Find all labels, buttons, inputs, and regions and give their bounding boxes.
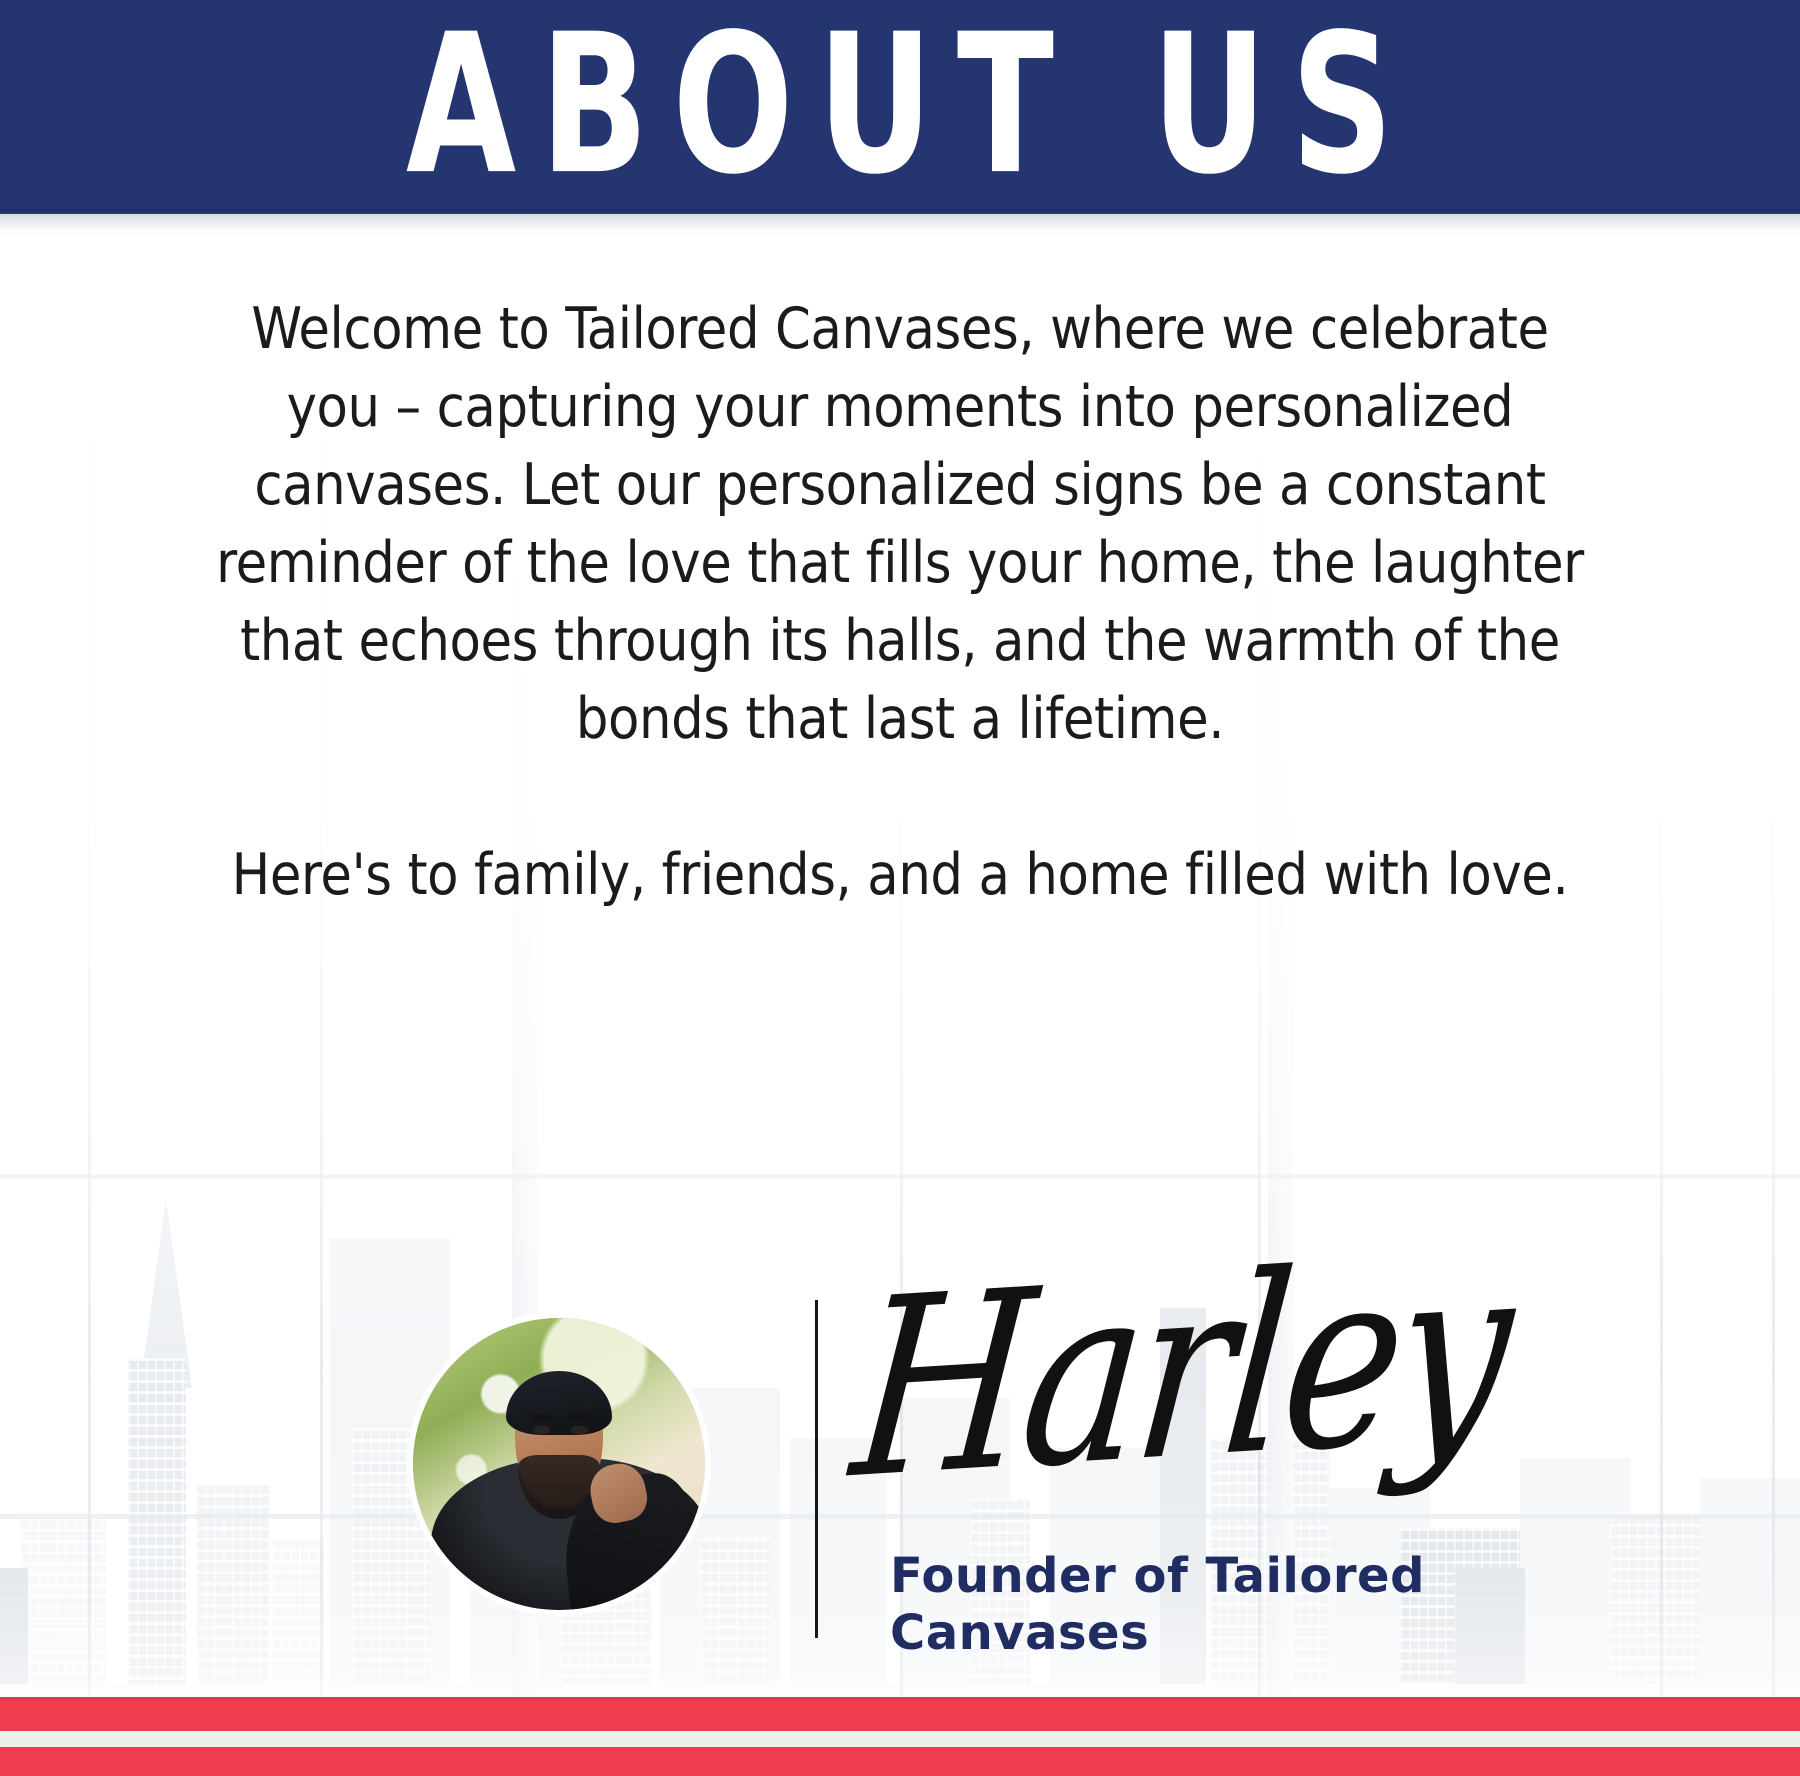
header-bar: ABOUT US xyxy=(0,0,1800,209)
avatar-eyebrow-left xyxy=(530,1414,553,1420)
about-us-poster: ABOUT US Welcome to Tailored Canvases, w… xyxy=(0,0,1800,1776)
paragraph-2: Here's to family, friends, and a home fi… xyxy=(210,836,1590,914)
founder-role: Founder of Tailored Canvases xyxy=(890,1548,1450,1662)
founder-block: Harley Founder of Tailored Canvases xyxy=(0,1300,1800,1700)
avatar-eyebrow-right xyxy=(568,1414,591,1420)
footer-stripe-top xyxy=(0,1697,1800,1731)
signature-divider xyxy=(815,1300,818,1638)
paragraph-1: Welcome to Tailored Canvases, where we c… xyxy=(210,290,1590,758)
avatar-eye-right xyxy=(571,1426,589,1434)
footer-stripe-bottom xyxy=(0,1747,1800,1776)
paragraph-spacer xyxy=(210,758,1590,836)
avatar-eye-left xyxy=(533,1426,551,1434)
header-shadow xyxy=(0,214,1800,240)
founder-signature: Harley xyxy=(840,1218,1390,1569)
footer-stripe-gap xyxy=(0,1731,1800,1747)
footer-stripe-top-edge xyxy=(0,1697,1800,1700)
founder-role-line-2: Canvases xyxy=(890,1605,1450,1662)
avatar xyxy=(413,1318,705,1610)
page-title: ABOUT US xyxy=(382,8,1417,201)
header-rule xyxy=(0,209,1800,214)
founder-role-line-1: Founder of Tailored xyxy=(890,1548,1450,1605)
about-copy: Welcome to Tailored Canvases, where we c… xyxy=(0,290,1800,914)
